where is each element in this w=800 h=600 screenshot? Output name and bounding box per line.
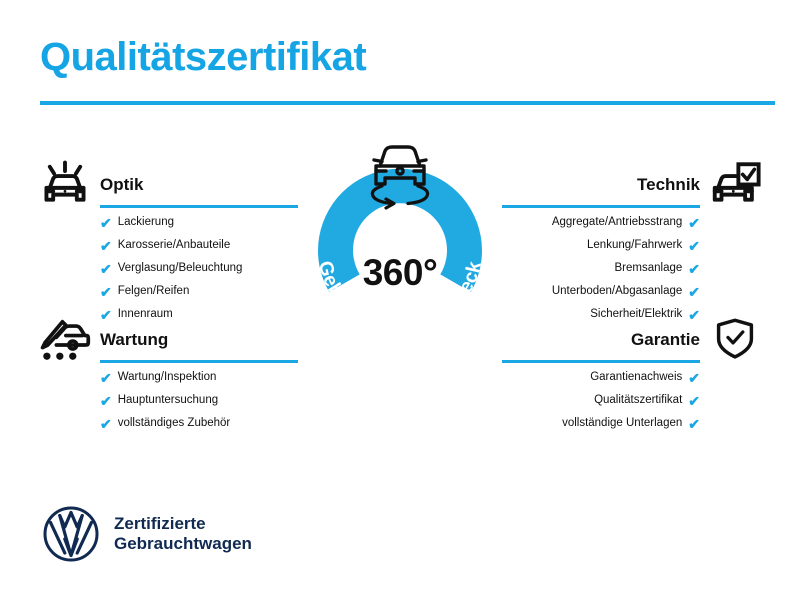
check-icon: ✔ xyxy=(100,371,112,385)
check-icon: ✔ xyxy=(100,417,112,431)
list-item: Bremsanlage ✔ xyxy=(502,262,700,276)
vw-brand-line1: Zertifizierte xyxy=(114,514,252,534)
section-header-technik: Technik xyxy=(502,158,764,216)
shield-check-icon xyxy=(706,313,764,365)
section-header-wartung: Wartung xyxy=(36,313,298,371)
list-item: vollständige Unterlagen ✔ xyxy=(502,417,700,431)
check-icon: ✔ xyxy=(688,285,700,299)
list-item: ✔ Felgen/Reifen xyxy=(100,285,298,299)
checklist-optik: ✔ Lackierung ✔ Karosserie/Anbauteile ✔ V… xyxy=(100,216,298,322)
section-underline-optik xyxy=(100,205,298,208)
list-item-label: Wartung/Inspektion xyxy=(118,372,217,384)
section-technik: Technik Aggregate/Antriebsstrang ✔ Lenku… xyxy=(502,158,764,331)
badge-center-label: 360° xyxy=(300,254,500,291)
car-checkbox-icon xyxy=(706,158,764,210)
list-item-label: Verglasung/Beleuchtung xyxy=(118,263,243,275)
list-item-label: Felgen/Reifen xyxy=(118,286,190,298)
section-title-technik: Technik xyxy=(637,176,700,193)
vw-brand-text: Zertifizierte Gebrauchtwagen xyxy=(114,514,252,554)
section-title-garantie: Garantie xyxy=(631,331,700,348)
list-item-label: Lenkung/Fahrwerk xyxy=(587,240,682,252)
list-item: Lenkung/Fahrwerk ✔ xyxy=(502,239,700,253)
check-icon: ✔ xyxy=(688,239,700,253)
check-icon: ✔ xyxy=(688,394,700,408)
section-underline-wartung xyxy=(100,360,298,363)
vw-brand-line2: Gebrauchtwagen xyxy=(114,534,252,554)
car-service-tool-icon xyxy=(36,313,94,365)
section-title-optik: Optik xyxy=(100,176,143,193)
list-item-label: Garantienachweis xyxy=(590,372,682,384)
check-icon: ✔ xyxy=(688,216,700,230)
checklist-wartung: ✔ Wartung/Inspektion ✔ Hauptuntersuchung… xyxy=(100,371,298,431)
check-icon: ✔ xyxy=(688,371,700,385)
section-underline-garantie xyxy=(502,360,700,363)
list-item: Aggregate/Antriebsstrang ✔ xyxy=(502,216,700,230)
section-title-wartung: Wartung xyxy=(100,331,168,348)
check-icon: ✔ xyxy=(100,262,112,276)
list-item: ✔ Lackierung xyxy=(100,216,298,230)
list-item-label: Aggregate/Antriebsstrang xyxy=(552,217,682,229)
check-icon: ✔ xyxy=(100,285,112,299)
list-item: ✔ Karosserie/Anbauteile xyxy=(100,239,298,253)
check-icon: ✔ xyxy=(100,239,112,253)
section-optik: Optik ✔ Lackierung ✔ Karosserie/Anbautei… xyxy=(36,158,298,331)
check-icon: ✔ xyxy=(688,262,700,276)
section-underline-technik xyxy=(502,205,700,208)
list-item: Unterboden/Abgasanlage ✔ xyxy=(502,285,700,299)
list-item: Qualitätszertifikat ✔ xyxy=(502,394,700,408)
list-item-label: Hauptuntersuchung xyxy=(118,395,218,407)
car-front-lights-icon xyxy=(36,158,94,210)
vw-logo-icon xyxy=(42,505,100,563)
check-icon: ✔ xyxy=(100,216,112,230)
vw-brand-lockup: Zertifizierte Gebrauchtwagen xyxy=(42,505,252,563)
section-header-garantie: Garantie xyxy=(502,313,764,371)
check-icon: ✔ xyxy=(688,417,700,431)
list-item: ✔ Wartung/Inspektion xyxy=(100,371,298,385)
section-wartung: Wartung ✔ Wartung/Inspektion ✔ Hauptunte… xyxy=(36,313,298,440)
section-header-optik: Optik xyxy=(36,158,298,216)
list-item: ✔ Hauptuntersuchung xyxy=(100,394,298,408)
list-item-label: Qualitätszertifikat xyxy=(594,395,682,407)
list-item: Garantienachweis ✔ xyxy=(502,371,700,385)
list-item-label: Bremsanlage xyxy=(615,263,683,275)
list-item-label: Unterboden/Abgasanlage xyxy=(552,286,682,298)
list-item-label: Lackierung xyxy=(118,217,174,229)
list-item-label: Karosserie/Anbauteile xyxy=(118,240,231,252)
checklist-garantie: Garantienachweis ✔ Qualitätszertifikat ✔… xyxy=(502,371,700,431)
badge-360-check: Gebrauchtwagen-Check 360° xyxy=(300,150,500,350)
car-rotate-icon xyxy=(352,138,448,214)
list-item: ✔ vollständiges Zubehör xyxy=(100,417,298,431)
list-item: ✔ Verglasung/Beleuchtung xyxy=(100,262,298,276)
title-divider xyxy=(40,101,775,105)
list-item-label: vollständiges Zubehör xyxy=(118,418,231,430)
section-garantie: Garantie Garantienachweis ✔ Qualitätszer… xyxy=(502,313,764,440)
list-item-label: vollständige Unterlagen xyxy=(562,418,682,430)
checklist-technik: Aggregate/Antriebsstrang ✔ Lenkung/Fahrw… xyxy=(502,216,700,322)
page-title: Qualitätszertifikat xyxy=(40,36,366,78)
check-icon: ✔ xyxy=(100,394,112,408)
